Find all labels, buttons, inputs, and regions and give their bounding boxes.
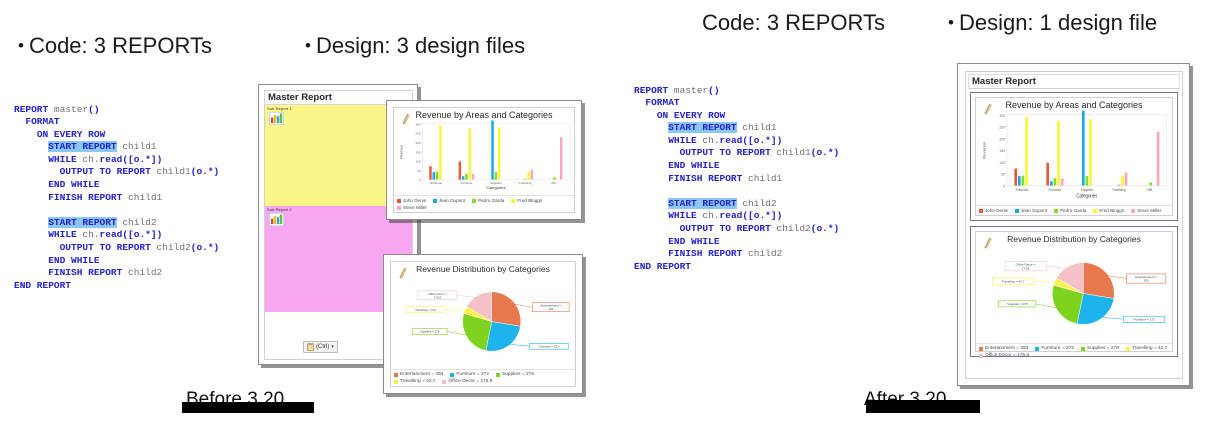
- pie-chart-plot: Entertainment =293Furniture = 272Supplie…: [391, 274, 575, 369]
- heading-design-before-text: Design: 3 design files: [316, 33, 525, 58]
- svg-text:Supplies = 278: Supplies = 278: [1007, 302, 1028, 306]
- paste-options-label: (Ctrl): [316, 344, 329, 350]
- bar-chart-icon: [269, 213, 284, 226]
- chevron-down-icon: ▾: [331, 344, 334, 350]
- pie-chart-card: Revenue Distribution by Categories Enter…: [390, 261, 576, 387]
- code-block-after: REPORT master() FORMAT ON EVERY ROW STAR…: [634, 85, 839, 274]
- svg-text:Supplies: Supplies: [1081, 188, 1093, 192]
- bullet-glyph: •: [18, 36, 24, 55]
- bar-chart-legend: John DenisJean DupontPedro GardaFred Blo…: [976, 205, 1172, 215]
- heading-code-before: •Code: 3 REPORTs: [18, 33, 212, 59]
- heading-code-after-text: Code: 3 REPORTs: [702, 10, 885, 35]
- after-master-canvas: Master Report Revenue by Areas and Categ…: [965, 71, 1183, 379]
- after-master-report-title: Master Report: [968, 74, 1180, 89]
- svg-text:50: 50: [417, 169, 421, 173]
- legend-item: Entertainment = 293: [394, 372, 443, 377]
- heading-code-after: Code: 3 REPORTs: [702, 10, 885, 36]
- paste-options-button[interactable]: (Ctrl) ▾: [303, 341, 338, 353]
- legend-item: Travelling = 42.7: [1126, 346, 1167, 351]
- svg-text:100: 100: [415, 160, 420, 164]
- legend-item: Fred Bloggs: [511, 198, 542, 203]
- legend-item: Pedro Garda: [1054, 208, 1086, 213]
- clipboard-icon: [307, 343, 314, 351]
- svg-text:Furniture: Furniture: [1049, 188, 1062, 192]
- legend-item: Office Decor = 175.8: [979, 353, 1029, 358]
- svg-text:Offi...: Offi...: [1147, 188, 1155, 192]
- heading-design-after: •Design: 1 design file: [948, 10, 1157, 36]
- svg-text:0: 0: [1003, 184, 1005, 188]
- bar-chart-title: Revenue by Areas and Categories: [976, 98, 1172, 110]
- legend-item: John Denis: [397, 198, 426, 203]
- svg-text:150: 150: [999, 149, 1005, 153]
- svg-text:300: 300: [999, 114, 1005, 118]
- pie-chart-legend: Entertainment = 293Furniture = 272Suppli…: [391, 369, 575, 386]
- svg-text:250: 250: [415, 132, 420, 136]
- svg-text:175.8: 175.8: [1022, 266, 1030, 270]
- pie-chart-title: Revenue Distribution by Categories: [976, 232, 1172, 244]
- legend-item: John Denis: [979, 208, 1008, 213]
- svg-text:300: 300: [415, 122, 420, 126]
- svg-text:Offi...: Offi...: [551, 181, 558, 185]
- pie-chart-title: Revenue Distribution by Categories: [391, 262, 575, 274]
- after-bar-chart-panel[interactable]: Revenue by Areas and Categories 05010015…: [970, 92, 1178, 221]
- svg-text:Travelling: Travelling: [1112, 188, 1126, 192]
- redaction-bar-before: [182, 402, 314, 413]
- bar-chart-icon: [269, 112, 284, 125]
- slide-canvas: •Code: 3 REPORTs •Design: 3 design files…: [0, 0, 1210, 423]
- pie-chart-legend: Entertainment = 293Furniture = 272Suppli…: [976, 343, 1172, 360]
- legend-item: Furniture = 272: [450, 372, 489, 377]
- svg-text:Entherta...: Entherta...: [430, 181, 444, 185]
- svg-text:Furniture = 272: Furniture = 272: [539, 344, 559, 348]
- svg-text:293: 293: [548, 307, 553, 311]
- design-file-after-master-report[interactable]: Master Report Revenue by Areas and Categ…: [957, 63, 1190, 386]
- legend-item: Travelling = 42.7: [394, 379, 435, 384]
- svg-text:Entherta...: Entherta...: [1016, 188, 1031, 192]
- svg-text:Revenue: Revenue: [400, 145, 404, 159]
- svg-text:Travelling = 42.7: Travelling = 42.7: [1002, 279, 1025, 283]
- svg-text:Revenue: Revenue: [982, 141, 987, 159]
- legend-item: Jean Dupont: [433, 198, 465, 203]
- svg-text:0: 0: [419, 178, 421, 182]
- bar-chart-card: Revenue by Areas and Categories 05010015…: [393, 107, 575, 213]
- pie-chart-plot: Entertainment =293Furniture = 272Supplie…: [976, 244, 1172, 343]
- legend-item: Office Decor = 175.8: [442, 379, 492, 384]
- bullet-glyph: •: [948, 13, 954, 32]
- code-block-before: REPORT master() FORMAT ON EVERY ROW STAR…: [14, 104, 219, 293]
- svg-text:100: 100: [999, 161, 1005, 165]
- design-file-pie-chart[interactable]: Revenue Distribution by Categories Enter…: [383, 254, 583, 394]
- heading-design-before: •Design: 3 design files: [305, 33, 525, 59]
- heading-code-before-text: Code: 3 REPORTs: [29, 33, 212, 58]
- svg-text:200: 200: [999, 137, 1005, 141]
- legend-item: Fred Bloggs: [1093, 208, 1124, 213]
- legend-item: Entertainment = 293: [979, 346, 1028, 351]
- svg-text:293: 293: [1144, 279, 1149, 283]
- svg-text:Categories: Categories: [486, 185, 505, 190]
- legend-item: Supplies = 278: [496, 372, 534, 377]
- after-pie-chart-panel[interactable]: Revenue Distribution by Categories Enter…: [970, 226, 1178, 357]
- bar-chart-legend: John DenisJean DupontPedro GardaFred Blo…: [394, 195, 574, 212]
- legend-item: Pedro Garda: [472, 198, 504, 203]
- svg-text:Travelling = 42.7: Travelling = 42.7: [415, 308, 437, 312]
- legend-item: Steve Miller: [397, 205, 427, 210]
- pie-chart-card: Revenue Distribution by Categories Enter…: [975, 231, 1173, 352]
- svg-text:50: 50: [1001, 172, 1005, 176]
- svg-text:Supplies = 278: Supplies = 278: [420, 330, 440, 334]
- legend-item: Steve Miller: [1131, 208, 1161, 213]
- bar-chart-plot: 050100150200250300RevenueEntherta...Furn…: [394, 120, 574, 195]
- svg-text:175.8: 175.8: [434, 295, 442, 299]
- legend-item: Supplies = 278: [1081, 346, 1119, 351]
- svg-text:150: 150: [415, 150, 420, 154]
- svg-text:Travelling: Travelling: [519, 181, 532, 185]
- svg-text:Furniture = 272: Furniture = 272: [1134, 318, 1155, 322]
- svg-text:Furniture: Furniture: [461, 181, 473, 185]
- svg-text:200: 200: [415, 141, 420, 145]
- design-file-bar-chart[interactable]: Revenue by Areas and Categories 05010015…: [386, 100, 582, 220]
- heading-design-after-text: Design: 1 design file: [959, 10, 1157, 35]
- legend-item: Furniture = 272: [1035, 346, 1074, 351]
- bar-chart-title: Revenue by Areas and Categories: [394, 108, 574, 120]
- bar-chart-card: Revenue by Areas and Categories 05010015…: [975, 97, 1173, 216]
- svg-text:Categories: Categories: [1076, 193, 1098, 199]
- redaction-bar-after: [866, 400, 980, 413]
- bar-chart-plot: 050100150200250300RevenueEntherta...Furn…: [976, 110, 1172, 205]
- legend-item: Jean Dupont: [1015, 208, 1047, 213]
- svg-text:250: 250: [999, 125, 1005, 129]
- bullet-glyph: •: [305, 36, 311, 55]
